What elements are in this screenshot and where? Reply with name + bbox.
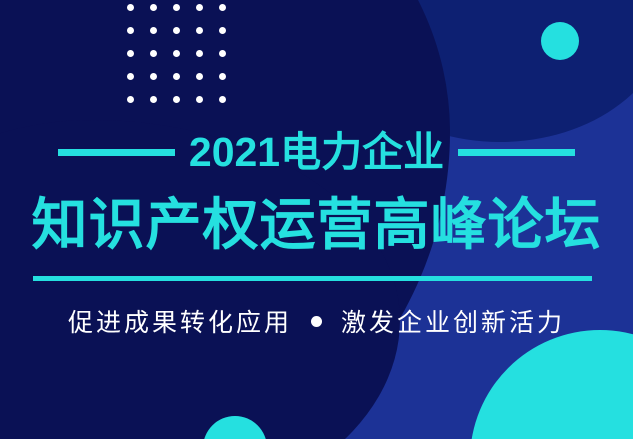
banner-content: 2021电力企业 知识产权运营高峰论坛 促进成果转化应用 激发企业创新活力 (0, 0, 633, 439)
banner-title-line2: 知识产权运营高峰论坛 (0, 196, 633, 255)
banner-title-line1: 2021电力企业 (189, 132, 444, 173)
bullet-separator-icon (311, 316, 322, 327)
title-dash-right (458, 149, 575, 156)
subtitle-left-text: 促进成果转化应用 (68, 303, 292, 339)
event-promo-banner: 2021电力企业 知识产权运营高峰论坛 促进成果转化应用 激发企业创新活力 (0, 0, 633, 439)
subtitle-row: 促进成果转化应用 激发企业创新活力 (0, 303, 633, 339)
subtitle-right-text: 激发企业创新活力 (341, 303, 565, 339)
subtitle-divider (33, 276, 592, 281)
title-line1-row: 2021电力企业 (0, 132, 633, 173)
title-dash-left (58, 149, 175, 156)
